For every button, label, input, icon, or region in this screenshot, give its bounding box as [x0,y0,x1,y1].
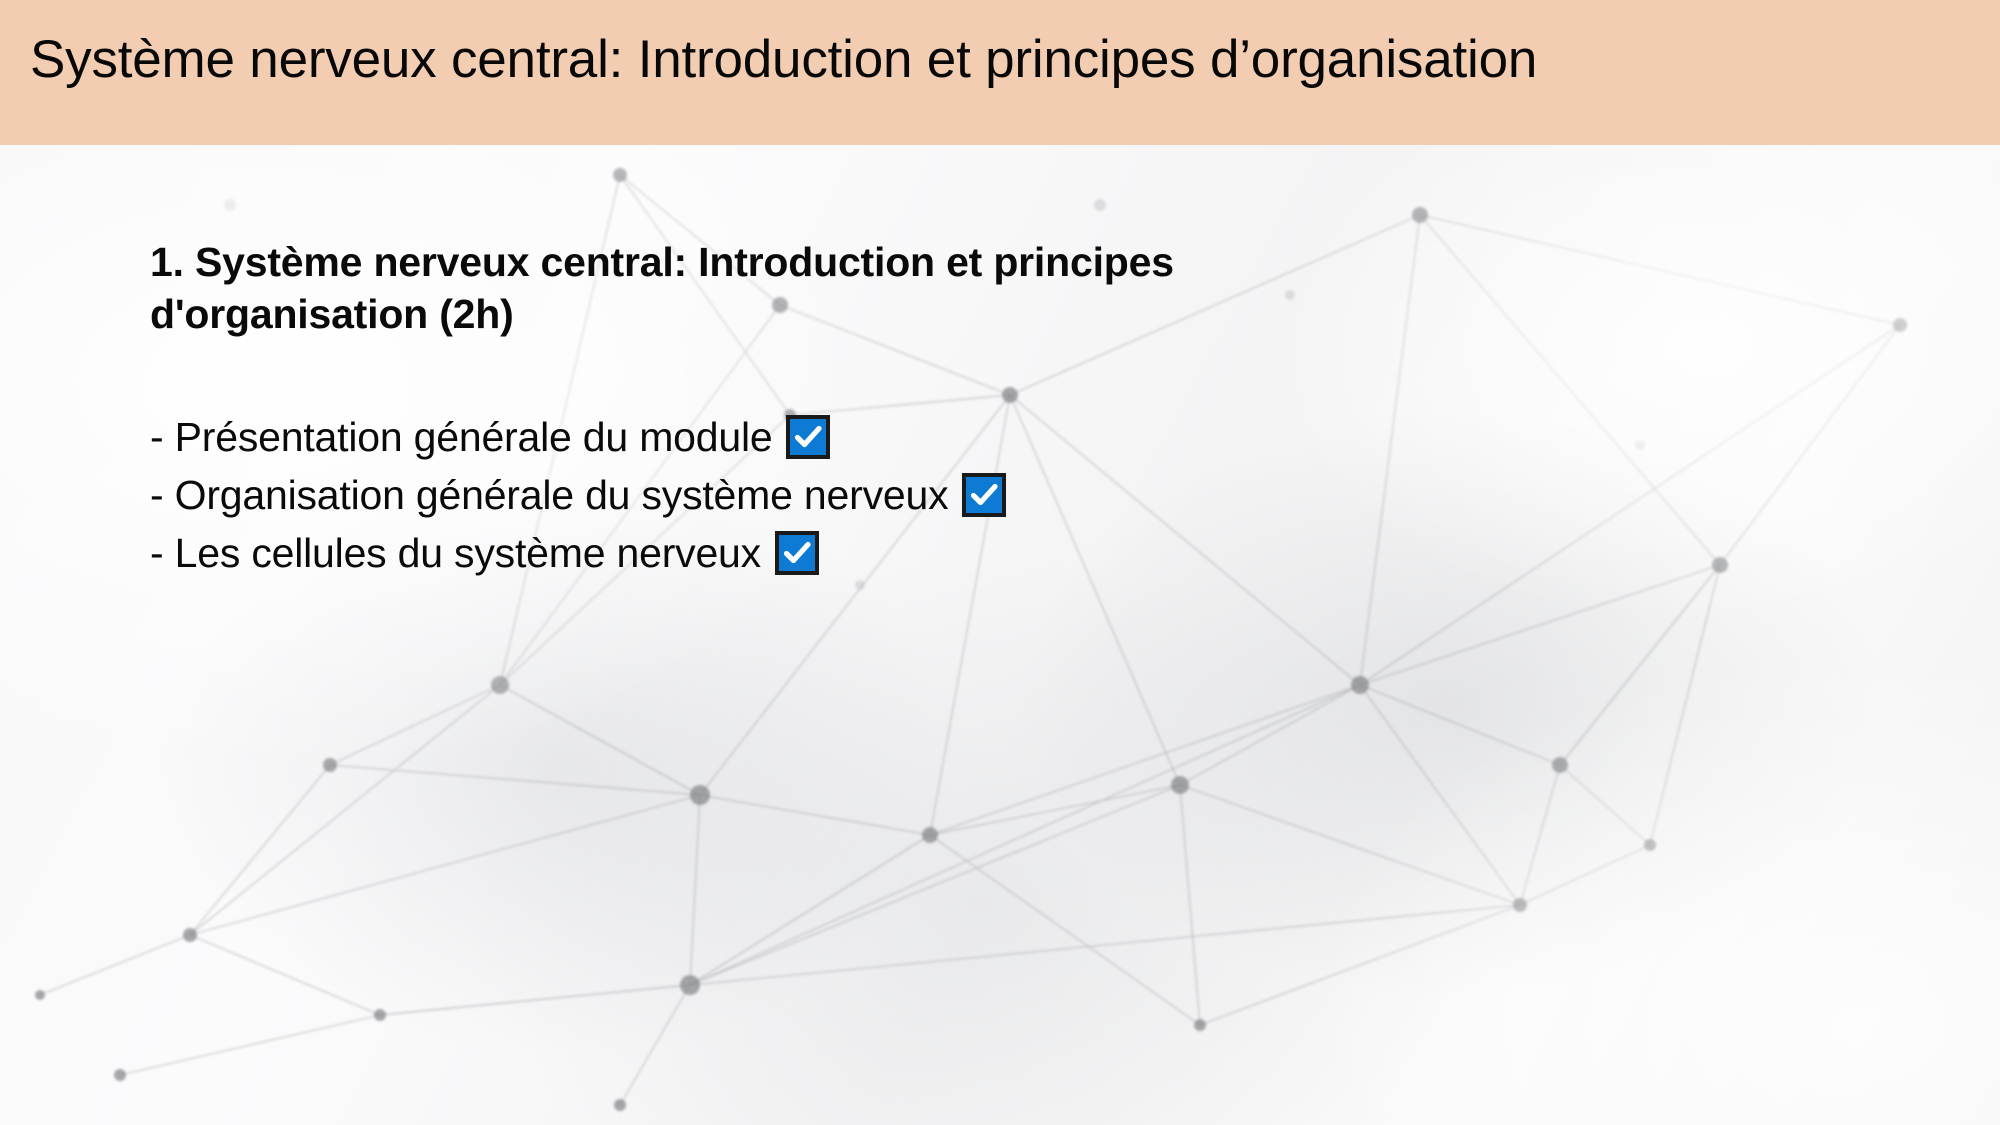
checkbox-checked-icon[interactable] [962,473,1006,517]
list-item: - Les cellules du système nerveux [150,524,1480,582]
slide-content: 1. Système nerveux central: Introduction… [150,236,1480,582]
page-title: Système nerveux central: Introduction et… [30,28,1980,92]
checkbox-checked-icon[interactable] [786,415,830,459]
slide-canvas: Système nerveux central: Introduction et… [0,0,2000,1125]
checkbox-checked-icon[interactable] [775,531,819,575]
list-item-label: - Les cellules du système nerveux [150,524,761,582]
list-item-label: - Organisation générale du système nerve… [150,466,948,524]
list-item-label: - Présentation générale du module [150,408,772,466]
list-item: - Organisation générale du système nerve… [150,466,1480,524]
agenda-list: - Présentation générale du module - Orga… [150,408,1480,582]
list-item: - Présentation générale du module [150,408,1480,466]
section-heading: 1. Système nerveux central: Introduction… [150,236,1450,340]
